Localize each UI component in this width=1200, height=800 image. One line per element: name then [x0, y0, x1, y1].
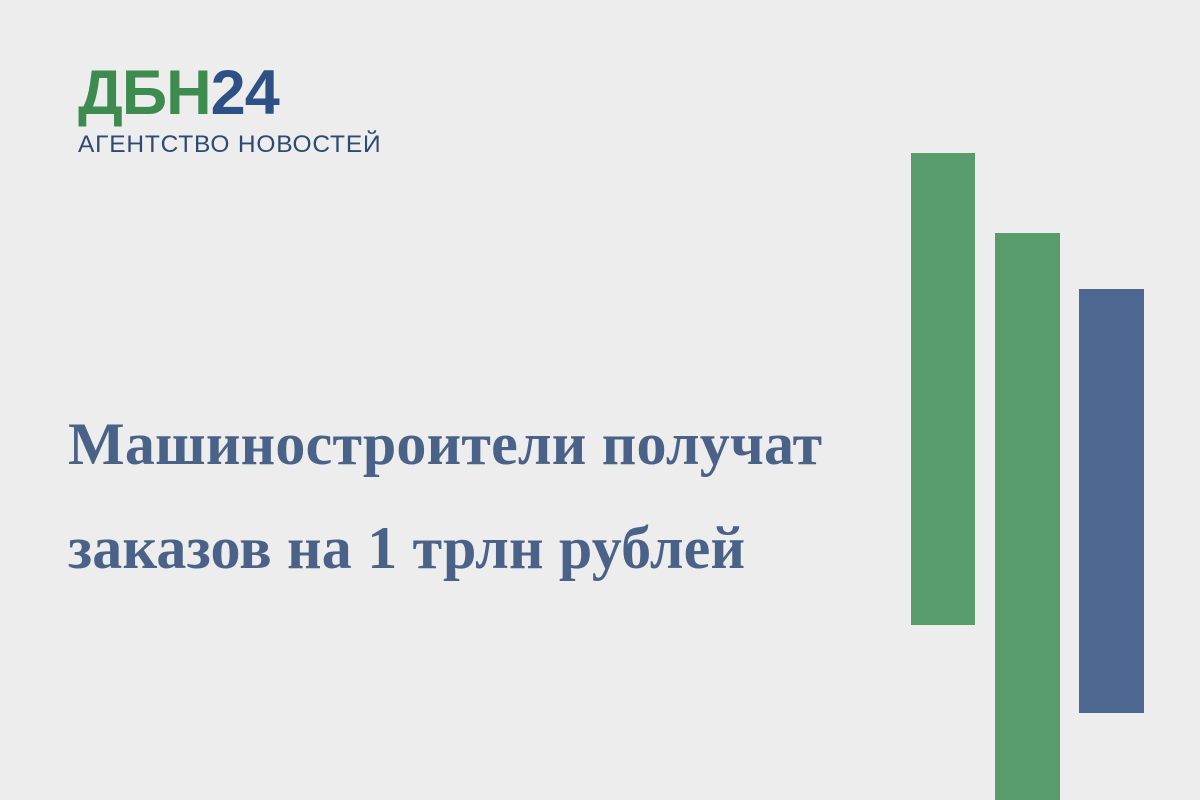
headline-line-1: Машиностроители получат	[68, 392, 898, 496]
logo-wordmark-secondary: 24	[211, 58, 279, 128]
logo-wordmark: ДБН24	[78, 62, 368, 125]
decorative-bar-3	[1079, 289, 1144, 713]
news-card: ДБН24 АГЕНТСТВО НОВОСТЕЙ Машиностроители…	[0, 0, 1200, 800]
page-title: Машиностроители получат заказов на 1 трл…	[68, 392, 898, 600]
logo-wordmark-primary: ДБН	[78, 58, 211, 128]
headline-line-2: заказов на 1 трлн рублей	[68, 496, 898, 600]
abn24-logo[interactable]: ДБН24 АГЕНТСТВО НОВОСТЕЙ	[78, 62, 368, 159]
decorative-bar-1	[911, 153, 975, 625]
logo-tagline: АГЕНТСТВО НОВОСТЕЙ	[78, 131, 368, 159]
decorative-bar-2	[995, 233, 1060, 800]
